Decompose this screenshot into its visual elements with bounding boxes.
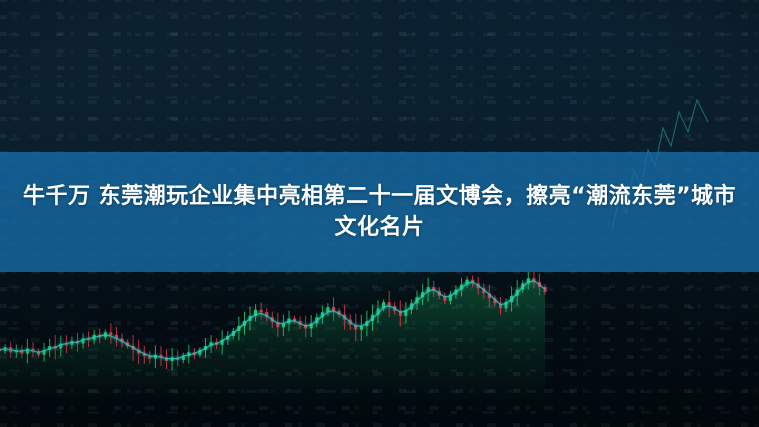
- headline-banner: 牛千万 东莞潮玩企业集中亮相第二十一届文博会，擦亮“潮流东莞”城市文化名片: [0, 152, 759, 272]
- page-title: 牛千万 东莞潮玩企业集中亮相第二十一届文博会，擦亮“潮流东莞”城市文化名片: [14, 181, 745, 243]
- screenshot-stage: 牛千万 东莞潮玩企业集中亮相第二十一届文博会，擦亮“潮流东莞”城市文化名片: [0, 0, 759, 427]
